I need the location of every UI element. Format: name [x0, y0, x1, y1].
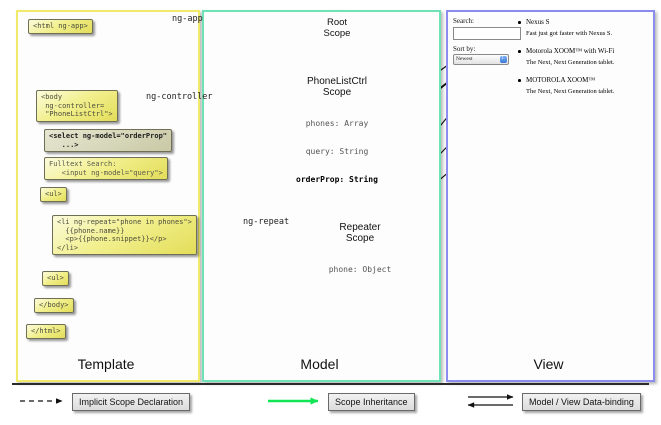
code-body-close-tag: </body>: [34, 298, 74, 313]
legend: Implicit Scope Declaration Scope Inherit…: [0, 383, 661, 425]
list-item[interactable]: MOTOROLA XOOM™ The Next, Next Generation…: [518, 76, 646, 95]
code-select-tag: <select ng-model="orderProp" ...>: [44, 129, 172, 152]
panel-label-model: Model: [202, 356, 437, 372]
edge-label-ng-app: ng-app: [172, 14, 203, 24]
panel-label-template: Template: [16, 356, 196, 372]
edge-label-ng-controller: ng-controller: [146, 92, 213, 102]
code-ul-close-tag: <ul>: [42, 271, 69, 286]
bullet-icon: [518, 79, 521, 82]
code-li-repeat-tag: <li ng-repeat="phone in phones"> {{phone…: [52, 215, 197, 255]
phone-snippet: Fast just got faster with Nexus S.: [526, 30, 646, 37]
sort-select-arrow-icon[interactable]: [500, 56, 507, 63]
panel-label-view: View: [446, 356, 651, 372]
search-label: Search:: [453, 17, 521, 25]
edge-label-ng-repeat: ng-repeat: [243, 217, 289, 227]
list-item[interactable]: Motorola XOOM™ with Wi-Fi The Next, Next…: [518, 47, 646, 66]
phone-name: Nexus S: [526, 18, 646, 26]
list-item[interactable]: Nexus S Fast just got faster with Nexus …: [518, 18, 646, 37]
sort-select[interactable]: Newest: [453, 54, 509, 65]
legend-item-model-view-data-binding: Model / View Data-binding: [522, 393, 641, 411]
search-input[interactable]: [453, 27, 521, 40]
phone-name: Motorola XOOM™ with Wi-Fi: [526, 47, 646, 55]
bullet-icon: [518, 50, 521, 53]
sort-label: Sort by:: [453, 45, 521, 53]
legend-item-scope-inheritance: Scope Inheritance: [328, 393, 415, 411]
sort-select-value: Newest: [456, 56, 473, 62]
view-search-controls: Search: Sort by: Newest: [453, 17, 521, 65]
phone-list: Nexus S Fast just got faster with Nexus …: [518, 18, 646, 101]
bullet-icon: [518, 21, 521, 24]
phone-snippet: The Next, Next Generation tablet.: [526, 59, 646, 66]
code-ul-open-tag: <ul>: [40, 187, 67, 202]
phone-snippet: The Next, Next Generation tablet.: [526, 88, 646, 95]
code-html-close-tag: </html>: [26, 324, 66, 339]
phone-name: MOTOROLA XOOM™: [526, 76, 646, 84]
panel-model: [202, 10, 441, 382]
code-html-tag: <html ng-app>: [28, 19, 93, 34]
diagram-canvas: Template Model View: [0, 0, 661, 425]
code-body-tag: <body ng-controller= "PhoneListCtrl">: [36, 90, 118, 122]
code-search-input-tag: Fulltext Search: <input ng-model="query"…: [44, 157, 168, 180]
legend-item-implicit-scope-declaration: Implicit Scope Declaration: [72, 393, 190, 411]
